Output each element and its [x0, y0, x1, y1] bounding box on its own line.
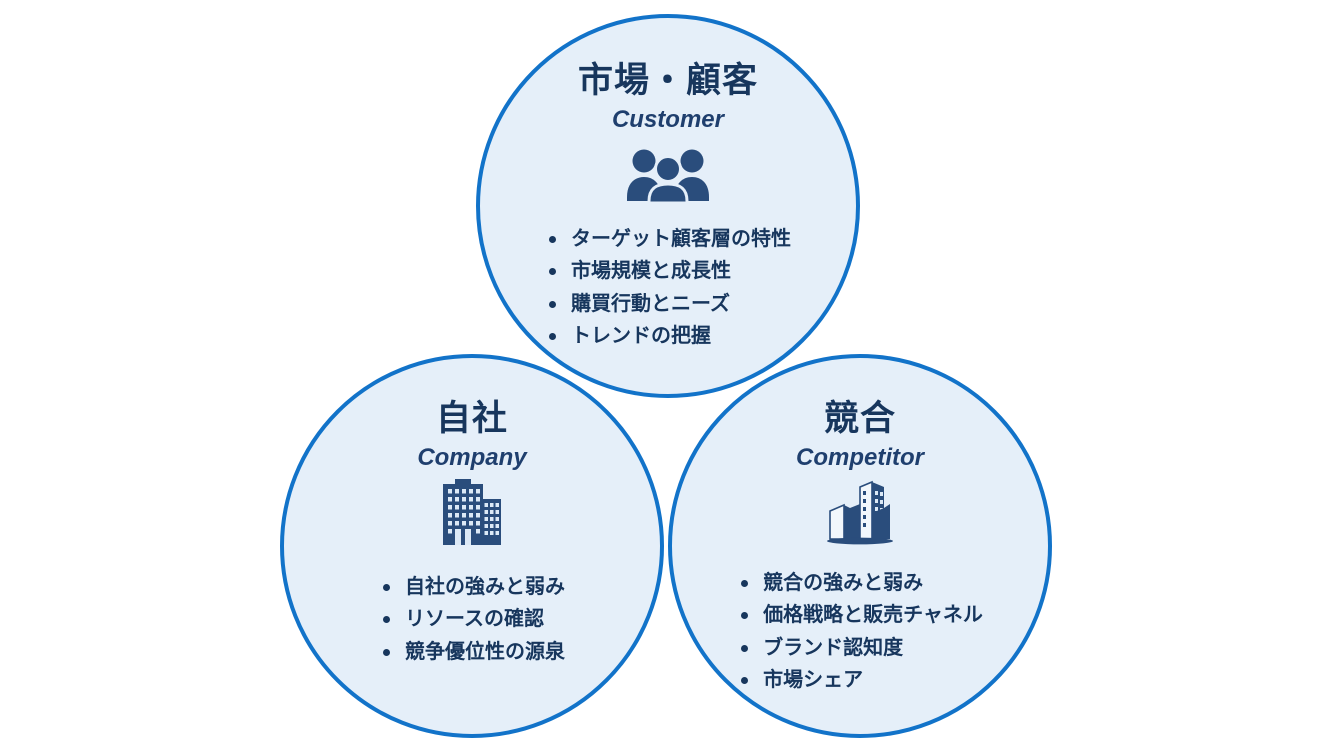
office-buildings-icon	[437, 475, 507, 549]
list-item: 購買行動とニーズ	[545, 288, 791, 320]
people-group-icon	[626, 141, 710, 209]
competitor-heading-group: 競合 Competitor	[796, 400, 924, 471]
customer-heading-group: 市場・顧客 Customer	[578, 62, 758, 133]
company-heading-group: 自社 Company	[417, 400, 526, 471]
list-item: 価格戦略と販売チャネル	[737, 599, 983, 631]
competitor-title-en: Competitor	[796, 445, 924, 471]
company-bullet-list: 自社の強みと弱み リソースの確認 競争優位性の源泉	[379, 571, 565, 668]
circle-company[interactable]: 自社 Company	[280, 354, 664, 738]
circle-competitor[interactable]: 競合 Competitor	[668, 354, 1052, 738]
city-skyline-icon	[824, 475, 896, 549]
competitor-bullet-list: 競合の強みと弱み 価格戦略と販売チャネル ブランド認知度 市場シェア	[737, 567, 983, 697]
customer-title-ja: 市場・顧客	[578, 62, 758, 101]
customer-bullet-list: ターゲット顧客層の特性 市場規模と成長性 購買行動とニーズ トレンドの把握	[545, 223, 791, 353]
list-item: 市場規模と成長性	[545, 255, 791, 287]
diagram-canvas: 市場・顧客 Customer ターゲット顧客層の特性 市場規模と成長性 購買行動…	[0, 0, 1344, 753]
list-item: ターゲット顧客層の特性	[545, 223, 791, 255]
company-title-en: Company	[417, 445, 526, 471]
list-item: トレンドの把握	[545, 320, 791, 352]
customer-title-en: Customer	[612, 107, 724, 133]
list-item: リソースの確認	[379, 603, 565, 635]
circle-customer[interactable]: 市場・顧客 Customer ターゲット顧客層の特性 市場規模と成長性 購買行動…	[476, 14, 860, 398]
list-item: 競争優位性の源泉	[379, 636, 565, 668]
list-item: 競合の強みと弱み	[737, 567, 983, 599]
company-title-ja: 自社	[436, 400, 508, 439]
list-item: ブランド認知度	[737, 632, 983, 664]
competitor-title-ja: 競合	[824, 400, 896, 439]
list-item: 自社の強みと弱み	[379, 571, 565, 603]
list-item: 市場シェア	[737, 664, 983, 696]
